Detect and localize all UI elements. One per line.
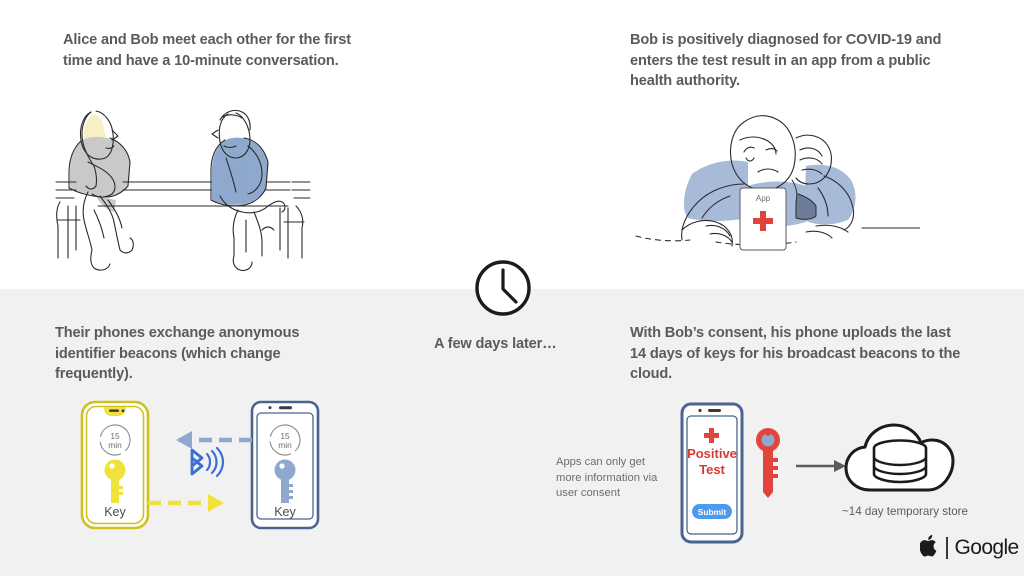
divider-label: A few days later…	[434, 336, 557, 352]
red-cross-icon	[753, 211, 773, 231]
apple-logo-icon	[920, 534, 939, 562]
bob-phone-app-label: App	[756, 194, 770, 203]
positive-test-line1: Positive	[687, 446, 737, 462]
illustration-alice-and-bob-on-bench	[48, 100, 318, 280]
bluetooth-broadcast-icon	[192, 448, 223, 476]
submit-button-label: Submit	[698, 507, 726, 517]
submit-button[interactable]: Submit	[692, 504, 732, 519]
apple-google-lockup: Google	[920, 534, 1019, 562]
illustration-upload-to-cloud: Positive Test Submit	[540, 398, 960, 553]
panel-heading-bottom-right: With Bob’s consent, his phone uploads th…	[630, 323, 970, 385]
logo-divider	[946, 537, 948, 559]
panel-heading-top-right: Bob is positively diagnosed for COVID-19…	[630, 30, 960, 92]
illustration-phone-beacon-exchange: 15 min Key 15 min Key	[80, 400, 320, 535]
panel-heading-bottom-left: Their phones exchange anonymous identifi…	[55, 323, 355, 385]
positive-test-line2: Test	[687, 462, 737, 478]
bob-phone-timer-unit: min	[271, 441, 299, 450]
bob-phone-key-label: Key	[274, 505, 296, 519]
illustration-bob-with-phone: App	[620, 100, 920, 265]
cloud-store-caption: ~14 day temporary store	[815, 505, 995, 518]
panel-heading-top-left: Alice and Bob meet each other for the fi…	[63, 30, 373, 71]
clock-icon	[473, 258, 533, 318]
infographic-canvas: Alice and Bob meet each other for the fi…	[0, 0, 1024, 576]
alice-phone-timer-unit: min	[101, 441, 129, 450]
alice-phone-key-label: Key	[104, 505, 126, 519]
google-wordmark: Google	[955, 536, 1019, 560]
